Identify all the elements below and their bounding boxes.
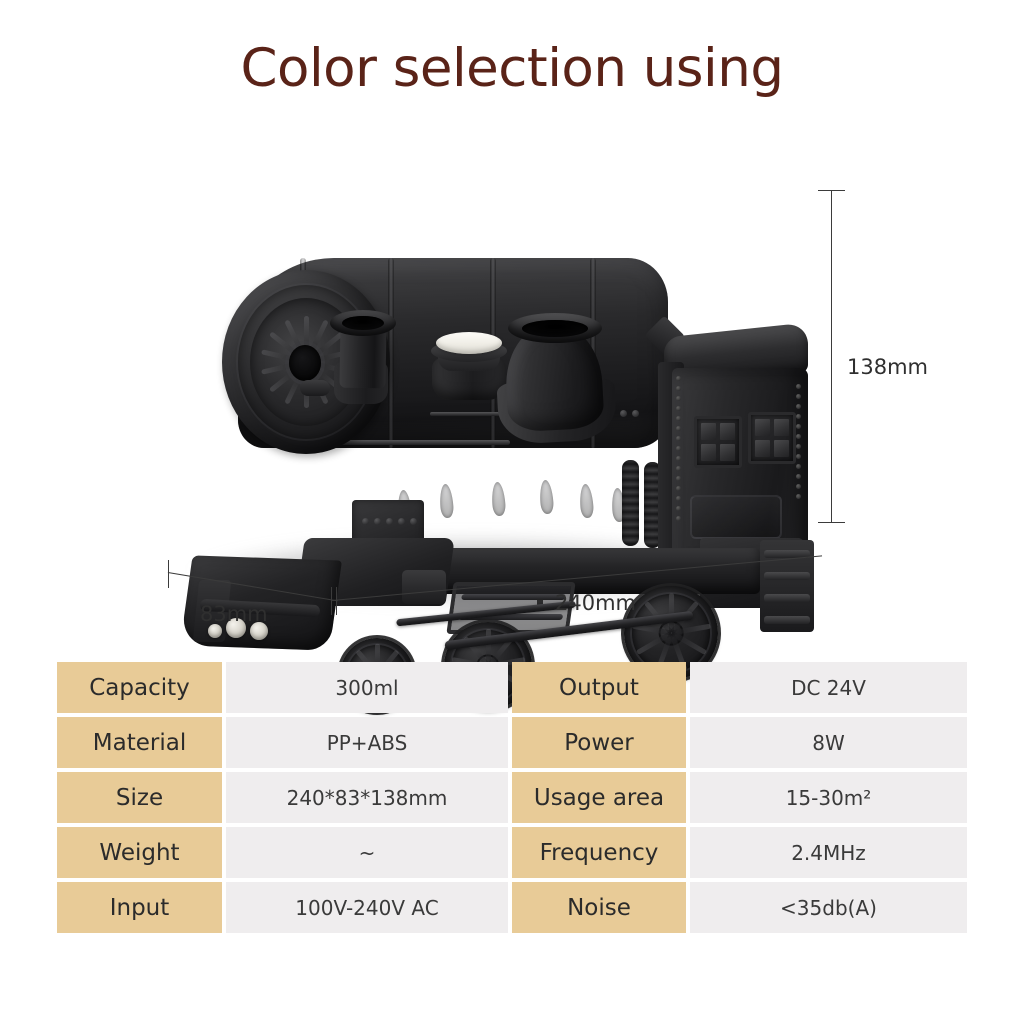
- hatch-rivets: [362, 518, 417, 525]
- boiler-rivets: [620, 410, 639, 417]
- cab-window-left: [694, 416, 742, 468]
- height-dimension-line: [831, 190, 832, 522]
- spec-value-input: 100V-240V AC: [226, 882, 508, 933]
- spec-label-weight: Weight: [57, 827, 222, 878]
- steam-dome-opening: [522, 320, 588, 337]
- spec-label-input: Input: [57, 882, 222, 933]
- spec-value-noise: <35db(A): [690, 882, 967, 933]
- rear-steps: [760, 540, 814, 632]
- mist-outlet-cap[interactable]: [436, 332, 502, 354]
- length-dimension-label: 240mm: [555, 591, 636, 615]
- specification-table: Capacity 300ml Output DC 24V Material PP…: [57, 662, 967, 933]
- spec-label-material: Material: [57, 717, 222, 768]
- height-dimension-label: 138mm: [847, 355, 928, 379]
- product-image: 138mm 240mm 83mm: [0, 140, 1024, 640]
- spec-label-usage-area: Usage area: [512, 772, 686, 823]
- coil-pipe: [622, 460, 639, 546]
- spec-value-material: PP+ABS: [226, 717, 508, 768]
- spec-value-frequency: 2.4MHz: [690, 827, 967, 878]
- flame-emboss: [491, 482, 506, 517]
- length-dimension-tick: [331, 587, 332, 615]
- spec-label-frequency: Frequency: [512, 827, 686, 878]
- flame-emboss: [579, 484, 594, 519]
- cab-side-panel: [690, 495, 782, 539]
- table-row: Size 240*83*138mm Usage area 15-30m²: [57, 772, 967, 823]
- table-row: Capacity 300ml Output DC 24V: [57, 662, 967, 713]
- height-dimension-tick-top: [818, 190, 845, 191]
- depth-dimension-label: 83mm: [200, 602, 268, 626]
- whistle: [300, 380, 330, 396]
- cab-rivets: [796, 384, 803, 499]
- spec-value-usage-area: 15-30m²: [690, 772, 967, 823]
- spec-value-weight: ~: [226, 827, 508, 878]
- cab-window-right: [748, 412, 796, 464]
- height-dimension-tick-bottom: [818, 522, 845, 523]
- depth-dimension-tick: [168, 560, 169, 588]
- cab-rivets: [676, 376, 683, 521]
- headlamp: [208, 624, 222, 638]
- spec-label-noise: Noise: [512, 882, 686, 933]
- funnel-opening: [342, 316, 384, 330]
- flame-emboss: [539, 480, 554, 515]
- smokebox-center-hole: [289, 345, 321, 381]
- table-row: Weight ~ Frequency 2.4MHz: [57, 827, 967, 878]
- spec-value-output: DC 24V: [690, 662, 967, 713]
- spec-value-capacity: 300ml: [226, 662, 508, 713]
- table-row: Input 100V-240V AC Noise <35db(A): [57, 882, 967, 933]
- spec-label-output: Output: [512, 662, 686, 713]
- spec-label-size: Size: [57, 772, 222, 823]
- steam-locomotive-humidifier: [0, 140, 1024, 640]
- spec-label-power: Power: [512, 717, 686, 768]
- page-title: Color selection using: [0, 38, 1024, 99]
- table-row: Material PP+ABS Power 8W: [57, 717, 967, 768]
- flame-emboss: [439, 484, 454, 519]
- cylinder-block: [402, 570, 446, 604]
- spec-value-power: 8W: [690, 717, 967, 768]
- spec-label-capacity: Capacity: [57, 662, 222, 713]
- spec-value-size: 240*83*138mm: [226, 772, 508, 823]
